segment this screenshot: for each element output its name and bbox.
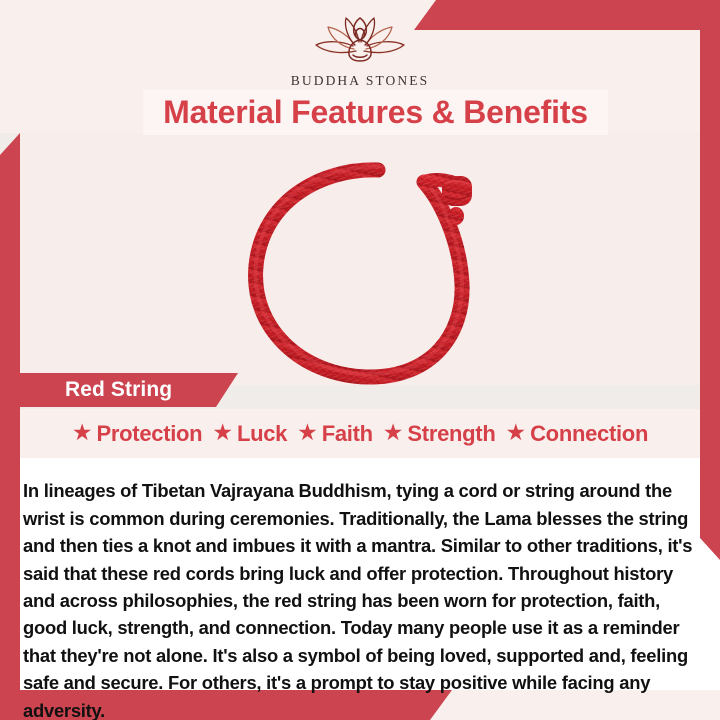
benefit-item-luck: ★ Luck (212, 421, 287, 447)
red-string-bracelet-image (228, 158, 500, 390)
brand-name: BUDDHA STONES (0, 73, 720, 89)
page-title: Material Features & Benefits (163, 94, 588, 131)
product-name-ribbon: Red String (20, 373, 238, 407)
benefit-label: Faith (322, 421, 373, 447)
title-banner: Material Features & Benefits (143, 90, 608, 135)
star-icon: ★ (297, 421, 318, 444)
lotus-meditation-icon (304, 14, 416, 70)
benefit-label: Luck (237, 421, 287, 447)
product-name-label: Red String (65, 378, 172, 402)
benefit-item-protection: ★ Protection (72, 421, 202, 447)
star-icon: ★ (505, 421, 526, 444)
benefit-item-faith: ★ Faith (297, 421, 373, 447)
star-icon: ★ (72, 421, 93, 444)
benefit-item-strength: ★ Strength (383, 421, 496, 447)
infographic-canvas: BUDDHA STONES Material Features & Benefi… (0, 0, 720, 720)
star-icon: ★ (212, 421, 233, 444)
benefits-list: ★ Protection ★ Luck ★ Faith ★ Strength ★… (20, 411, 700, 456)
star-icon: ★ (383, 421, 404, 444)
benefit-label: Connection (530, 421, 648, 447)
description-text: In lineages of Tibetan Vajrayana Buddhis… (23, 477, 695, 720)
benefit-label: Protection (97, 421, 203, 447)
brand-logo: BUDDHA STONES (0, 14, 720, 89)
decorative-band-left (0, 133, 20, 690)
adjustable-knot (442, 176, 472, 206)
benefit-label: Strength (407, 421, 495, 447)
benefit-item-connection: ★ Connection (505, 421, 648, 447)
